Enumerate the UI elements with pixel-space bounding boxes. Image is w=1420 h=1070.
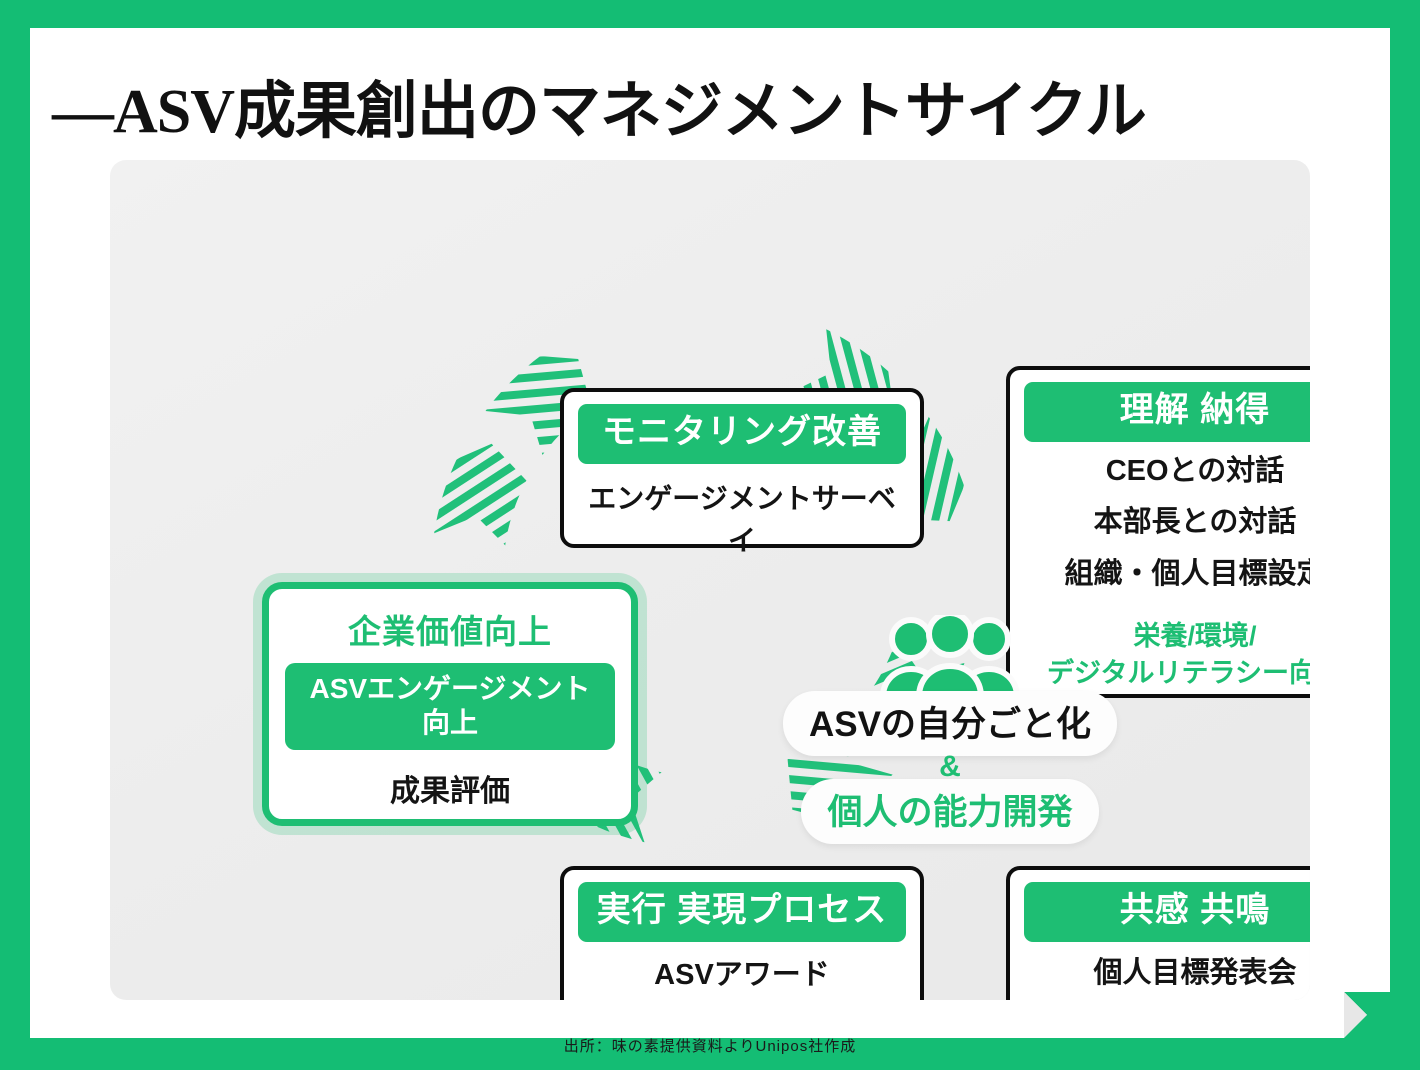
slide-card: —ASV成果創出のマネジメントサイクル <box>30 28 1390 1038</box>
card-understanding-item-0: CEOとの対話 <box>1106 450 1285 494</box>
card-empathy-header: 共感 共鳴 <box>1024 882 1310 942</box>
card-understanding-accent-0: 栄養/環境/ <box>1133 618 1256 654</box>
card-monitoring-header: モニタリング改善 <box>578 404 906 464</box>
card-monitoring-item-0: エンゲージメントサーベイ <box>578 478 906 562</box>
card-monitoring[interactable]: モニタリング改善 エンゲージメントサーベイ <box>560 388 924 548</box>
center-ampersand: & <box>939 752 961 782</box>
source-footer: 出所：味の素提供資料よりUnipos社作成 <box>0 1035 1420 1056</box>
card-corporate-value-pill-line1: ASVエンゲージメント <box>309 673 590 704</box>
card-corporate-value-header: 企業価値向上 <box>348 605 552 653</box>
card-execution-item-0: ASVアワード <box>654 954 830 998</box>
card-understanding-item-1: 本部長との対話 <box>1094 501 1297 545</box>
card-corporate-value-pill-line2: 向上 <box>422 707 478 738</box>
card-understanding-item-2: 組織・個人目標設定 <box>1064 553 1310 597</box>
card-understanding-header: 理解 納得 <box>1024 382 1310 442</box>
card-corporate-value[interactable]: 企業価値向上 ASVエンゲージメント 向上 成果評価 <box>262 582 638 826</box>
card-understanding-accent-1: デジタルリテラシー向上 <box>1047 655 1310 691</box>
card-empathy-item-0: 個人目標発表会 <box>1093 952 1296 996</box>
card-empathy[interactable]: 共感 共鳴 個人目標発表会 事例共有 参加型研修イベント <box>1006 866 1310 1000</box>
card-execution-header: 実行 実現プロセス <box>578 882 906 942</box>
card-corporate-value-pill: ASVエンゲージメント 向上 <box>285 663 615 750</box>
diagram-stage: モニタリング改善 エンゲージメントサーベイ 理解 納得 CEOとの対話 本部長と… <box>110 160 1310 1000</box>
card-corporate-value-footer: 成果評価 <box>390 766 510 810</box>
page-fold-corner <box>1344 992 1390 1038</box>
card-understanding[interactable]: 理解 納得 CEOとの対話 本部長との対話 組織・個人目標設定 栄養/環境/ デ… <box>1006 366 1310 698</box>
center-line-1: ASVの自分ごと化 <box>783 691 1117 756</box>
card-execution[interactable]: 実行 実現プロセス ASVアワード アクセラレータープログラム 新事業アイデア公… <box>560 866 924 1000</box>
people-group-icon <box>875 615 1025 697</box>
page-title: —ASV成果創出のマネジメントサイクル <box>52 60 1372 150</box>
center-line-2: 個人の能力開発 <box>801 779 1098 844</box>
